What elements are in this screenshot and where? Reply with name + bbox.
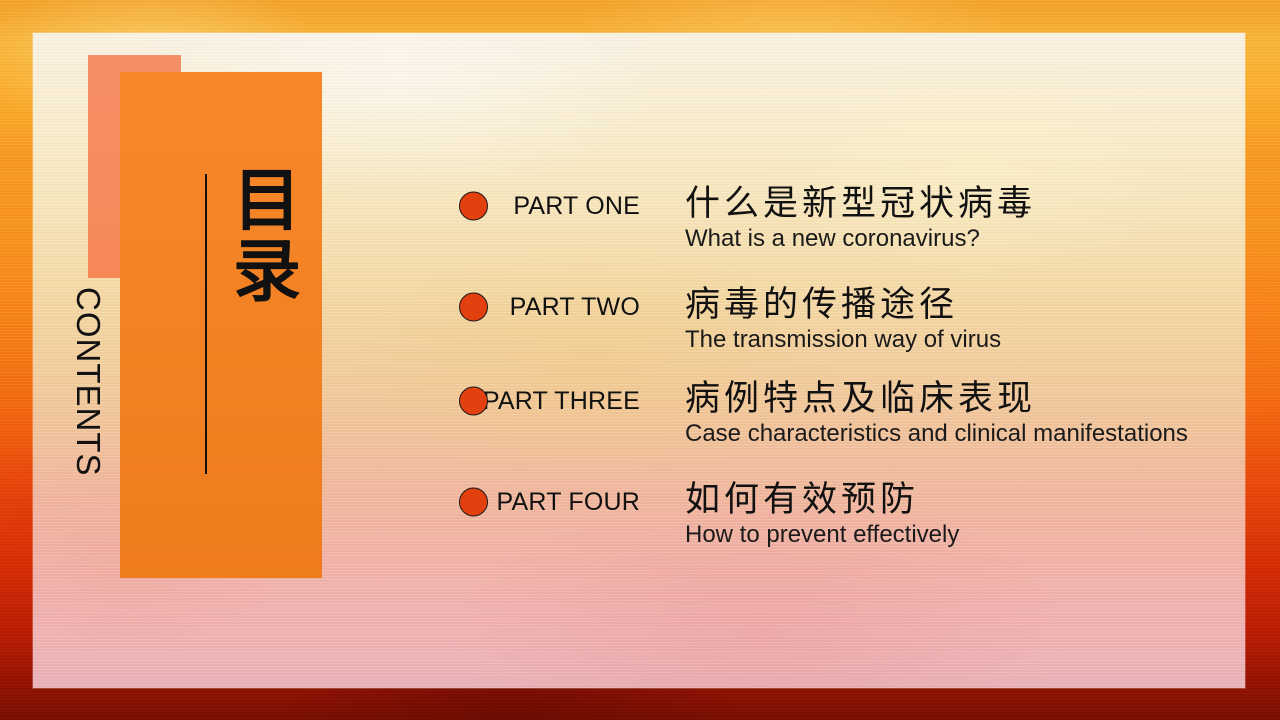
agenda-item-4-text: 如何有效预防 How to prevent effectively xyxy=(685,482,1205,549)
agenda-item-1-heading-en: What is a new coronavirus? xyxy=(685,225,1205,253)
agenda-item-4-part-label: PART FOUR xyxy=(497,484,641,520)
decorative-block-solid xyxy=(120,72,322,578)
decorative-block-sheen xyxy=(120,72,322,578)
agenda-item-2[interactable]: PART TWO 病毒的传播途径 The transmission way of… xyxy=(455,287,1205,354)
agenda-item-3-heading-cn: 病例特点及临床表现 xyxy=(685,381,1205,419)
agenda-item-4[interactable]: PART FOUR 如何有效预防 How to prevent effectiv… xyxy=(455,482,1205,549)
agenda-list: PART ONE 什么是新型冠状病毒 What is a new coronav… xyxy=(455,0,1215,720)
page-title-char-1: 目 xyxy=(222,166,312,237)
agenda-item-2-heading-cn: 病毒的传播途径 xyxy=(685,287,1205,325)
agenda-item-1[interactable]: PART ONE 什么是新型冠状病毒 What is a new coronav… xyxy=(455,186,1205,253)
agenda-item-3[interactable]: PART THREE 病例特点及临床表现 Case characteristic… xyxy=(455,381,1205,448)
agenda-item-2-heading-en: The transmission way of virus xyxy=(685,326,1205,354)
agenda-item-1-text: 什么是新型冠状病毒 What is a new coronavirus? xyxy=(685,186,1205,253)
agenda-item-4-marker-group: PART FOUR xyxy=(455,482,640,522)
agenda-item-3-part-label: PART THREE xyxy=(483,383,640,419)
agenda-item-1-marker-group: PART ONE xyxy=(455,186,640,226)
agenda-item-3-marker-group: PART THREE xyxy=(455,381,640,421)
slide-root: 目 录 CONTENTS PART ONE 什么是新型冠状病毒 What is … xyxy=(0,0,1280,720)
bullet-circle-icon xyxy=(459,387,488,416)
agenda-item-1-part-label: PART ONE xyxy=(513,188,640,224)
title-divider-line xyxy=(205,174,207,474)
agenda-item-4-heading-en: How to prevent effectively xyxy=(685,521,1205,549)
page-title-chinese: 目 录 xyxy=(222,166,312,309)
agenda-item-3-text: 病例特点及临床表现 Case characteristics and clini… xyxy=(685,381,1205,448)
agenda-item-4-heading-cn: 如何有效预防 xyxy=(685,482,1205,520)
agenda-item-2-part-label: PART TWO xyxy=(510,289,640,325)
bullet-circle-icon xyxy=(459,293,488,322)
agenda-item-2-text: 病毒的传播途径 The transmission way of virus xyxy=(685,287,1205,354)
agenda-item-1-heading-cn: 什么是新型冠状病毒 xyxy=(685,186,1205,224)
page-title-english-rotated: CONTENTS xyxy=(65,287,111,537)
page-title-char-2: 录 xyxy=(222,237,312,308)
bullet-circle-icon xyxy=(459,192,488,221)
bullet-circle-icon xyxy=(459,488,488,517)
agenda-item-3-heading-en: Case characteristics and clinical manife… xyxy=(685,420,1205,448)
agenda-item-2-marker-group: PART TWO xyxy=(455,287,640,327)
